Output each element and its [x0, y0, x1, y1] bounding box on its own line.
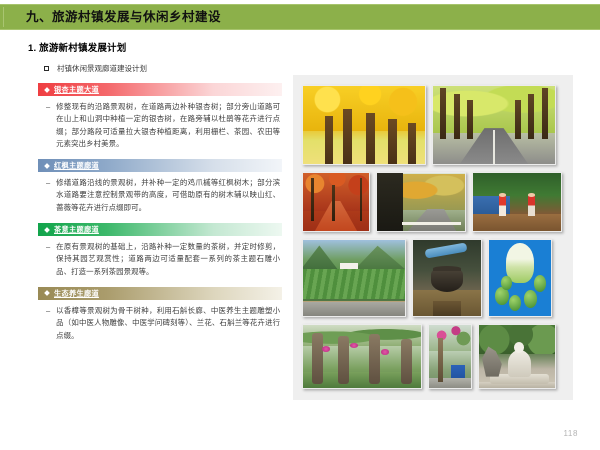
- photo-stone-buddha-garden[interactable]: [478, 324, 556, 389]
- gallery-row: [302, 239, 564, 317]
- theme-body-list: – 在原有景观树的基础上，沿路补种一定数量的茶树，并定时修剪，保持其园艺观赏性；…: [44, 241, 282, 278]
- diamond-bullet-icon: [44, 291, 50, 297]
- theme-body-text: 在原有景观树的基础上，沿路补种一定数量的茶树，并定时修剪，保持其园艺观赏性；道路…: [56, 241, 280, 278]
- slide-title: 九、旅游村镇发展与休闲乡村建设: [26, 11, 221, 24]
- list-item: – 以香樟等景观树为骨干树种，利用石斛长廊、中医养生主题雕塑小品（如中医人物雕像…: [44, 305, 282, 342]
- slide-root: 九、旅游村镇发展与休闲乡村建设 1. 旅游新村镇发展计划 村镇休闲景观廊道建设计…: [0, 0, 600, 450]
- theme-body-text: 修缮道路沿线的景观树，并补种一定的鸡爪槭等红枫树木；部分滨水道路要注意控制景观带…: [56, 177, 280, 214]
- theme-body-list: – 修整现有的沿路景观树，在道路两边补种银杏树；部分旁山道路可在山上和山洞中种植…: [44, 101, 282, 150]
- sub-heading-label: 村镇休闲景观廊道建设计划: [57, 63, 147, 74]
- list-item: – 修缮道路沿线的景观树，并补种一定的鸡爪槭等红枫树木；部分滨水道路要注意控制景…: [44, 177, 282, 214]
- diamond-bullet-icon: [44, 163, 50, 169]
- diamond-bullet-icon: [44, 87, 50, 93]
- square-bullet-icon: [44, 66, 49, 71]
- photo-cyclists-on-greenway[interactable]: [472, 172, 562, 232]
- theme-section-tea: 茶意主题廊道 – 在原有景观树的基础上，沿路补种一定数量的茶树，并定时修剪，保持…: [38, 223, 282, 278]
- photo-ginkgo-tree-lined-road[interactable]: [432, 85, 556, 165]
- theme-header-bar[interactable]: 红枫主题廊道: [38, 159, 282, 172]
- dash-bullet-icon: –: [44, 177, 50, 189]
- theme-section-maple: 红枫主题廊道 – 修缮道路沿线的景观树，并补种一定的鸡爪槭等红枫树木；部分滨水道…: [38, 159, 282, 214]
- theme-body-text: 修整现有的沿路景观树，在道路两边补种银杏树；部分旁山道路可在山上和山洞中种植一定…: [56, 101, 280, 150]
- theme-label: 生态养生廊道: [54, 290, 99, 297]
- dash-bullet-icon: –: [44, 241, 50, 253]
- page-number: 118: [563, 429, 578, 438]
- photo-tea-kettle-still-life[interactable]: [412, 239, 482, 317]
- list-item: – 修整现有的沿路景观树，在道路两边补种银杏树；部分旁山道路可在山上和山洞中种植…: [44, 101, 282, 150]
- photo-jade-cabbage-sculpture[interactable]: [488, 239, 552, 317]
- theme-body-list: – 修缮道路沿线的景观树，并补种一定的鸡爪槭等红枫树木；部分滨水道路要注意控制景…: [44, 177, 282, 214]
- theme-body-list: – 以香樟等景观树为骨干树种，利用石斛长廊、中医养生主题雕塑小品（如中医人物雕像…: [44, 305, 282, 342]
- photo-orchid-tree-park[interactable]: [302, 324, 422, 389]
- theme-header-bar[interactable]: 茶意主题廊道: [38, 223, 282, 236]
- list-item: – 在原有景观树的基础上，沿路补种一定数量的茶树，并定时修剪，保持其园艺观赏性；…: [44, 241, 282, 278]
- photo-autumn-country-lane[interactable]: [376, 172, 466, 232]
- section-heading: 1. 旅游新村镇发展计划: [28, 40, 292, 54]
- photo-red-maple-forest-path[interactable]: [302, 172, 370, 232]
- theme-header-bar[interactable]: 生态养生廊道: [38, 287, 282, 300]
- theme-label: 红枫主题廊道: [54, 162, 99, 169]
- sub-heading-row: 村镇休闲景观廊道建设计划: [44, 63, 292, 74]
- theme-label: 茶意主题廊道: [54, 226, 99, 233]
- gallery-row: [302, 172, 564, 232]
- gallery-row: [302, 324, 564, 389]
- theme-body-text: 以香樟等景观树为骨干树种，利用石斛长廊、中医养生主题雕塑小品（如中医人物雕像、中…: [56, 305, 280, 342]
- dash-bullet-icon: –: [44, 101, 50, 113]
- dash-bullet-icon: –: [44, 305, 50, 317]
- image-gallery-panel: [293, 75, 573, 400]
- theme-label: 银杏主题大道: [54, 86, 99, 93]
- slide-title-bar: 九、旅游村镇发展与休闲乡村建设: [0, 4, 600, 30]
- gallery-row: [302, 85, 564, 165]
- theme-section-ginkgo: 银杏主题大道 – 修整现有的沿路景观树，在道路两边补种银杏树；部分旁山道路可在山…: [38, 83, 282, 150]
- photo-tea-terraces-with-cyclists[interactable]: [302, 239, 406, 317]
- diamond-bullet-icon: [44, 227, 50, 233]
- photo-golden-ginkgo-grove[interactable]: [302, 85, 426, 165]
- theme-section-ecology: 生态养生廊道 – 以香樟等景观树为骨干树种，利用石斛长廊、中医养生主题雕塑小品（…: [38, 287, 282, 342]
- content-column: 1. 旅游新村镇发展计划 村镇休闲景观廊道建设计划 银杏主题大道 – 修整现有的…: [0, 32, 292, 432]
- theme-header-bar[interactable]: 银杏主题大道: [38, 83, 282, 96]
- photo-blossom-lined-street[interactable]: [428, 324, 472, 389]
